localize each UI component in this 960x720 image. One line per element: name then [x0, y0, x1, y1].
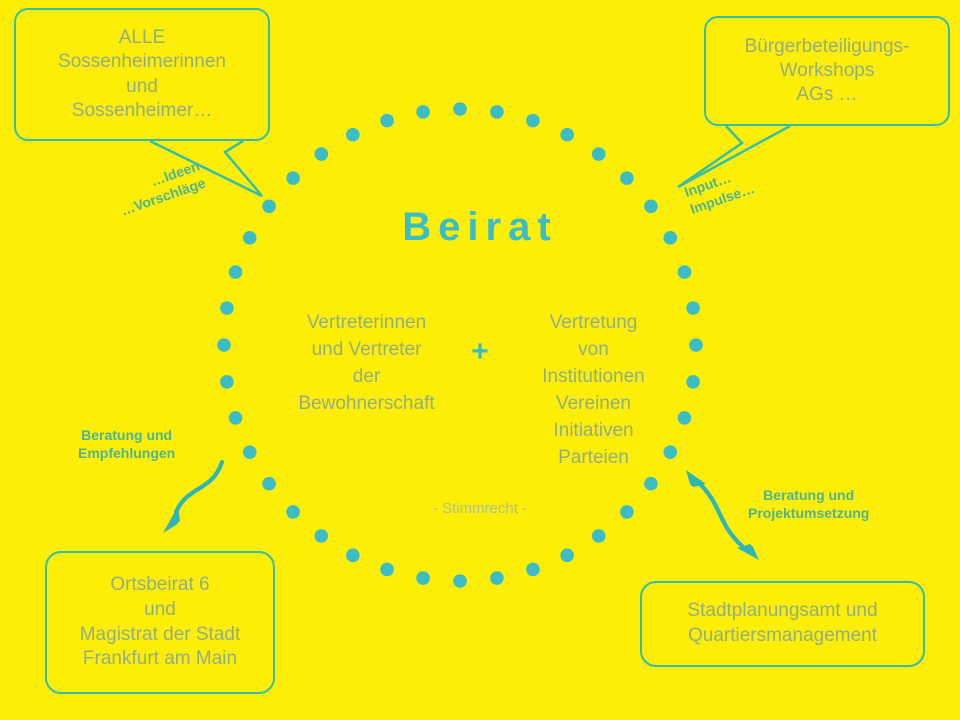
ring-dot	[380, 114, 394, 128]
ring-dot	[262, 477, 276, 491]
box-stadtplanungsamt-quartiersmanagement: Stadtplanungsamt und Quartiersmanagement	[640, 581, 925, 667]
ring-dot	[526, 563, 540, 577]
ring-dot	[229, 265, 243, 279]
annotation-beratung-projektumsetzung: Beratung und Projektumsetzung	[748, 486, 869, 523]
ring-dot	[314, 147, 328, 161]
diagram-canvas: ALLE Sossenheimerinnen und Sossenheimer……	[0, 0, 960, 720]
ring-dot	[220, 301, 234, 315]
ring-dot	[416, 571, 430, 585]
arrowhead-down-projektumsetzung	[737, 544, 759, 560]
annotation-beratung-right-line-1: Beratung und	[748, 486, 869, 504]
annotation-beratung-left-line-2: Empfehlungen	[78, 444, 175, 462]
ring-dot	[314, 529, 328, 543]
page-title: Beirat	[0, 205, 960, 250]
annotation-beratung-left-line-1: Beratung und	[78, 426, 175, 444]
ring-dot	[678, 265, 692, 279]
council-left-line-1: Vertreterinnen	[274, 310, 459, 337]
bubble-alle-line-2: Sossenheimerinnen	[26, 50, 258, 74]
ring-dot	[453, 574, 467, 588]
ring-dot	[220, 375, 234, 389]
council-composition: Vertreterinnen und Vertreter der Bewohne…	[255, 310, 705, 472]
annotation-beratung-right-line-2: Projektumsetzung	[748, 504, 869, 522]
bubble-workshops-line-2: Workshops	[716, 59, 938, 83]
ring-dot	[526, 114, 540, 128]
arrowhead-up-projektumsetzung	[686, 470, 706, 487]
council-column-residents: Vertreterinnen und Vertreter der Bewohne…	[274, 310, 459, 418]
council-column-institutions: Vertretung von Institutionen Vereinen In…	[501, 310, 686, 472]
council-right-line-5: Initiativen	[501, 418, 686, 445]
speech-bubble-workshops: Bürgerbeteiligungs- Workshops AGs …	[704, 16, 950, 126]
bubble-alle-line-1: ALLE	[26, 26, 258, 50]
council-right-line-3: Institutionen	[501, 364, 686, 391]
speech-bubble-residents: ALLE Sossenheimerinnen und Sossenheimer…	[14, 8, 270, 141]
ring-dot	[286, 171, 300, 185]
ring-dot	[592, 147, 606, 161]
ring-dot	[416, 105, 430, 119]
council-right-line-6: Parteien	[501, 445, 686, 472]
ring-dot	[620, 171, 634, 185]
ring-dot	[229, 411, 243, 425]
ring-dot	[490, 571, 504, 585]
box-ortsbeirat-magistrat: Ortsbeirat 6 und Magistrat der Stadt Fra…	[45, 551, 275, 694]
ring-dot	[380, 563, 394, 577]
bubble-alle-line-3: und	[26, 75, 258, 99]
council-right-line-1: Vertretung	[501, 310, 686, 337]
box-ortsbeirat-line-3: Magistrat der Stadt	[80, 623, 241, 648]
box-stadtplanung-line-2: Quartiersmanagement	[687, 624, 877, 649]
box-ortsbeirat-line-4: Frankfurt am Main	[80, 647, 241, 672]
box-ortsbeirat-line-1: Ortsbeirat 6	[80, 573, 241, 598]
ring-dot	[560, 548, 574, 562]
ring-dot	[217, 338, 231, 352]
council-left-line-2: und Vertreter	[274, 337, 459, 364]
ring-dot	[346, 128, 360, 142]
plus-icon: +	[459, 310, 501, 367]
ring-dot	[644, 477, 658, 491]
council-right-line-2: von	[501, 337, 686, 364]
ring-dot	[453, 102, 467, 116]
council-left-line-4: Bewohnerschaft	[274, 391, 459, 418]
annotation-beratung-empfehlungen: Beratung und Empfehlungen	[78, 426, 175, 463]
bubble-workshops-line-3: AGs …	[716, 83, 938, 107]
ring-dot	[346, 548, 360, 562]
council-right-line-4: Vereinen	[501, 391, 686, 418]
bubble-workshops-line-1: Bürgerbeteiligungs-	[716, 35, 938, 59]
box-stadtplanung-line-1: Stadtplanungsamt und	[687, 599, 877, 624]
bubble-alle-line-4: Sossenheimer…	[26, 99, 258, 123]
council-left-line-3: der	[274, 364, 459, 391]
ring-dot	[490, 105, 504, 119]
ring-dot	[592, 529, 606, 543]
box-ortsbeirat-line-2: und	[80, 598, 241, 623]
ring-dot	[560, 128, 574, 142]
